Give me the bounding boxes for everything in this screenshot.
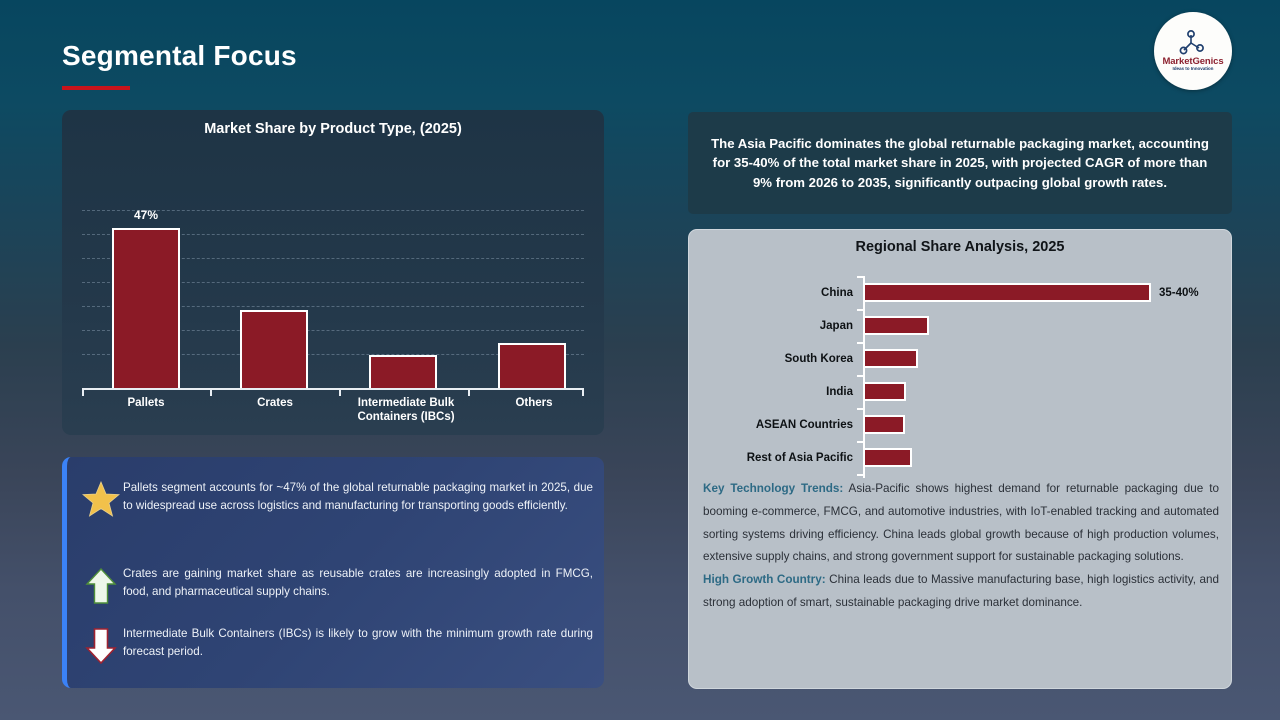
asia-pacific-callout: The Asia Pacific dominates the global re… (688, 112, 1232, 214)
cat-label-others: Others (470, 397, 598, 411)
insight-item: Crates are gaining market share as reusa… (79, 565, 599, 605)
region-row: China 35-40% (689, 276, 1233, 309)
region-label-india: India (689, 386, 863, 398)
hbar-asean[interactable] (863, 415, 905, 434)
axis-tick (82, 389, 84, 396)
cat-label-crates: Crates (211, 397, 339, 411)
bar-pallets[interactable] (112, 228, 180, 388)
axis-tick (339, 389, 341, 396)
logo-tagline: Ideas to Innovation (1173, 67, 1214, 72)
insights-panel: Pallets segment accounts for ~47% of the… (62, 457, 604, 688)
insight-text: Intermediate Bulk Containers (IBCs) is l… (123, 625, 597, 661)
hbar-india[interactable] (863, 382, 906, 401)
hbar-japan[interactable] (863, 316, 929, 335)
bar-crates[interactable] (240, 310, 308, 388)
company-logo: MarketGenics Ideas to Innovation (1154, 12, 1232, 90)
region-row: South Korea (689, 342, 1233, 375)
axis-tick (210, 389, 212, 396)
arrow-down-icon (79, 625, 123, 665)
region-body-text: Key Technology Trends: Asia-Pacific show… (703, 478, 1219, 615)
insight-text: Pallets segment accounts for ~47% of the… (123, 479, 597, 515)
region-chart-plot: China 35-40% Japan South Korea India ASE… (689, 270, 1233, 485)
hbar-south-korea[interactable] (863, 349, 918, 368)
product-chart-title: Market Share by Product Type, (2025) (62, 121, 604, 137)
region-label-south-korea: South Korea (689, 353, 863, 365)
axis-tick (857, 474, 864, 476)
region-paragraph: Key Technology Trends: Asia-Pacific show… (703, 478, 1219, 569)
insight-item: Intermediate Bulk Containers (IBCs) is l… (79, 625, 599, 665)
region-lead-label: Key Technology Trends: (703, 482, 843, 495)
callout-text: The Asia Pacific dominates the global re… (704, 134, 1216, 191)
region-label-japan: Japan (689, 320, 863, 332)
title-underline-rule (62, 86, 130, 90)
network-nodes-icon (1178, 30, 1208, 56)
cat-label-pallets: Pallets (82, 397, 210, 411)
bar-others[interactable] (498, 343, 566, 388)
page-title: Segmental Focus (62, 40, 297, 72)
hbar-rest-asia-pacific[interactable] (863, 448, 912, 467)
insight-item: Pallets segment accounts for ~47% of the… (79, 479, 599, 517)
region-label-china: China (689, 287, 863, 299)
hbar-value-china: 35-40% (1159, 287, 1199, 299)
region-row: Japan (689, 309, 1233, 342)
regional-analysis-panel: Regional Share Analysis, 2025 China 35-4… (688, 229, 1232, 689)
arrow-up-icon (79, 565, 123, 605)
region-label-rest-asia-pacific: Rest of Asia Pacific (689, 452, 863, 464)
product-share-chart-panel: Market Share by Product Type, (2025) 47%… (62, 110, 604, 435)
star-icon (79, 479, 123, 517)
product-chart-plot: 47% Pallets Crates Intermediate Bulk Con… (72, 200, 594, 390)
hbar-china[interactable] (863, 283, 1151, 302)
cat-label-ibcs: Intermediate Bulk Containers (IBCs) (335, 397, 477, 425)
bar-value-pallets: 47% (112, 208, 180, 222)
region-chart-title: Regional Share Analysis, 2025 (689, 239, 1231, 255)
region-row: Rest of Asia Pacific (689, 441, 1233, 474)
axis-tick (582, 389, 584, 396)
axis-tick (468, 389, 470, 396)
insight-text: Crates are gaining market share as reusa… (123, 565, 597, 601)
logo-name: MarketGenics (1162, 57, 1223, 67)
x-axis-line (82, 388, 584, 390)
region-label-asean: ASEAN Countries (689, 419, 863, 431)
region-lead-label: High Growth Country: (703, 573, 826, 586)
region-row: ASEAN Countries (689, 408, 1233, 441)
bar-ibcs[interactable] (369, 355, 437, 388)
region-paragraph: High Growth Country: China leads due to … (703, 569, 1219, 615)
region-row: India (689, 375, 1233, 408)
